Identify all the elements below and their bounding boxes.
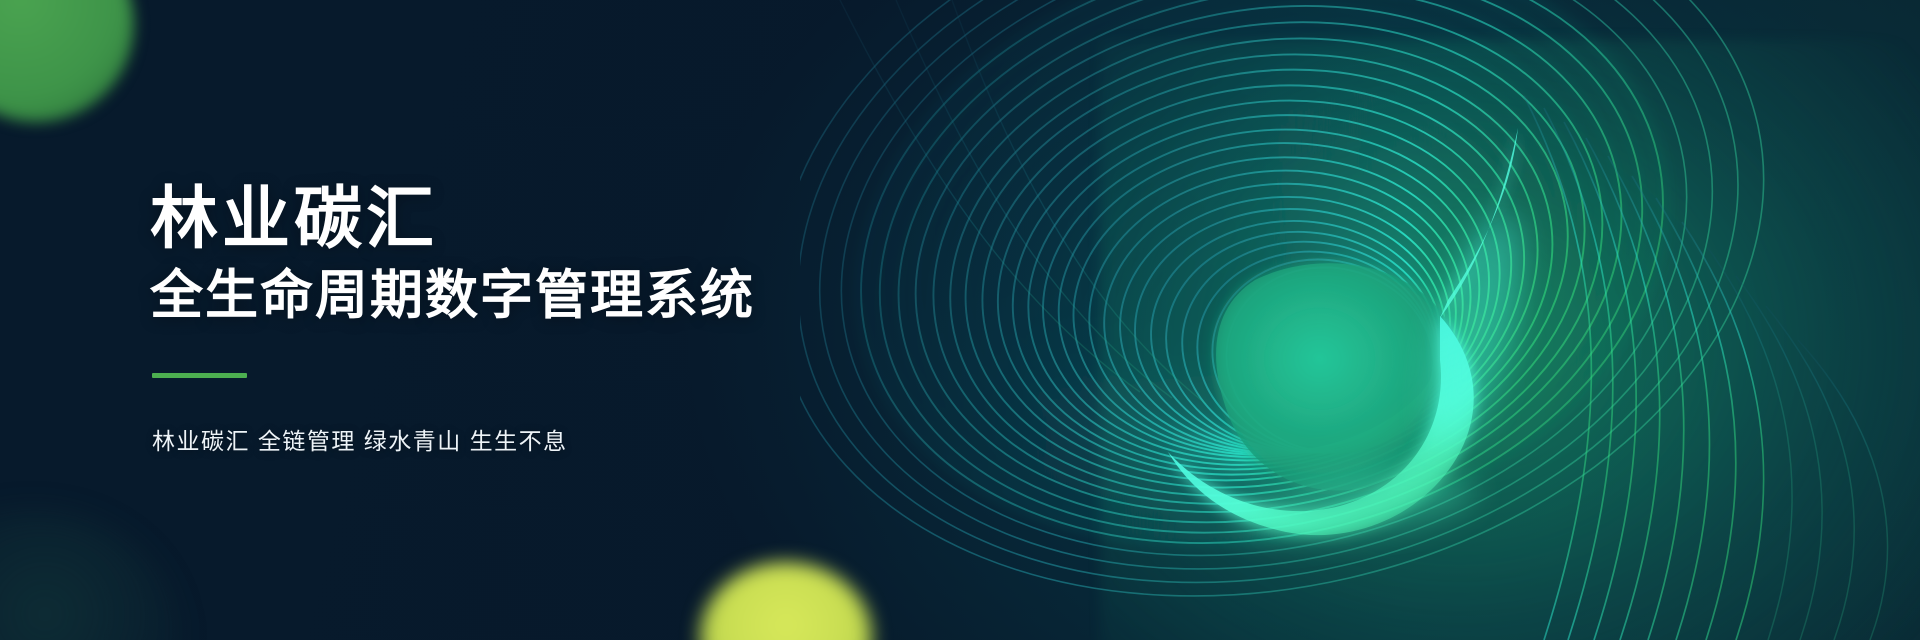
green-accent-divider [152,373,247,378]
hero-tagline: 林业碳汇 全链管理 绿水青山 生生不息 [152,422,755,456]
hero-banner: 林业碳汇 全生命周期数字管理系统 林业碳汇 全链管理 绿水青山 生生不息 [0,0,1920,640]
hero-text-block: 林业碳汇 全生命周期数字管理系统 林业碳汇 全链管理 绿水青山 生生不息 [150,0,755,640]
page-title: 林业碳汇 [150,184,755,255]
page-subtitle: 全生命周期数字管理系统 [150,266,755,327]
spiral-vortex-graphic [800,0,1920,640]
